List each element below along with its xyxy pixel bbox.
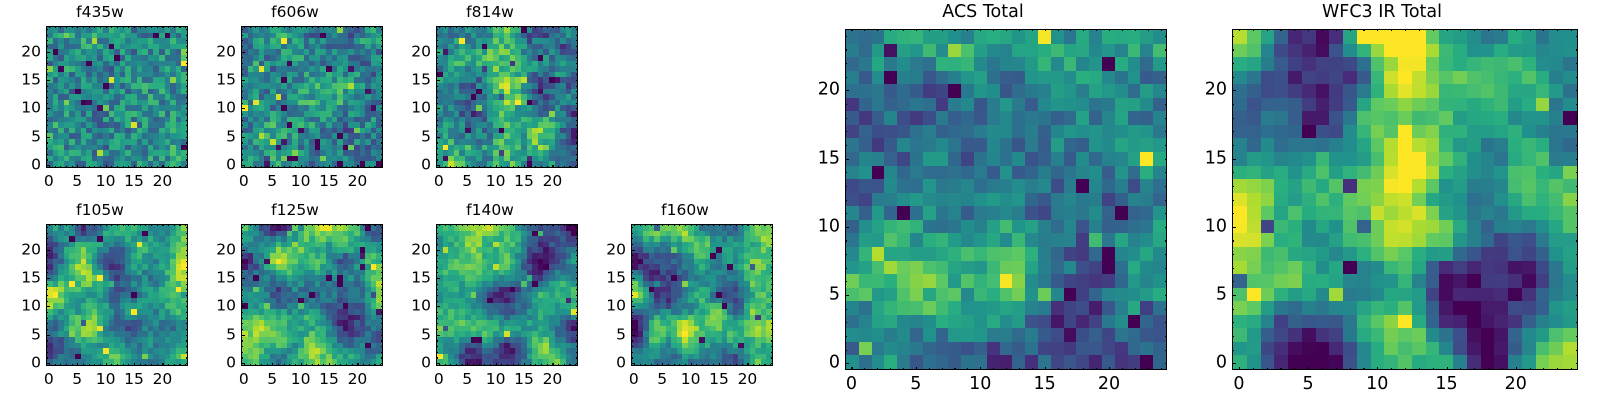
x-tick-minor (1045, 29, 1046, 31)
y-tick (436, 137, 440, 138)
x-tick-minor (518, 224, 519, 226)
x-tick-minor (162, 26, 163, 28)
heatmap-cells-f160w (632, 225, 772, 365)
y-tick-minor (1232, 36, 1234, 37)
y-tick-minor (576, 238, 578, 239)
x-tick (851, 367, 852, 371)
x-tick (1308, 367, 1309, 371)
x-tick-minor (72, 26, 73, 28)
y-tick-minor (46, 323, 48, 324)
x-tick-minor (100, 364, 101, 366)
y-tick (241, 306, 245, 307)
x-tick-minor (547, 166, 548, 168)
x-tick-minor (289, 364, 290, 366)
y-tick-minor (381, 108, 383, 109)
y-tick-minor (186, 159, 188, 160)
y-tick-minor (436, 238, 438, 239)
x-tick-label: 20 (1505, 376, 1527, 394)
heatmap-f105w[interactable] (46, 224, 188, 366)
x-tick-minor (518, 364, 519, 366)
x-tick-label: 0 (846, 376, 857, 394)
x-tick-minor (564, 166, 565, 168)
x-tick-minor (640, 224, 641, 226)
x-tick-minor (1294, 29, 1295, 31)
y-tick-minor (436, 340, 438, 341)
x-tick-minor (335, 26, 336, 28)
y-tick-minor (576, 103, 578, 104)
y-tick-minor (1165, 159, 1167, 160)
y-tick-minor (381, 301, 383, 302)
y-tick-minor (771, 284, 773, 285)
y-tick (436, 52, 440, 53)
y-tick-minor (576, 335, 578, 336)
x-tick-minor (507, 224, 508, 226)
x-tick-minor (1161, 368, 1162, 370)
x-tick-minor (329, 224, 330, 226)
y-tick-minor (436, 142, 438, 143)
x-tick-minor (267, 364, 268, 366)
heatmap-f140w[interactable] (436, 224, 578, 366)
x-tick-minor (473, 224, 474, 226)
y-tick-minor (186, 255, 188, 256)
y-tick-minor (1165, 227, 1167, 228)
y-tick-minor (845, 240, 847, 241)
y-tick-minor (241, 40, 243, 41)
y-tick-label: 20 (411, 44, 431, 60)
heatmap-f814w[interactable] (436, 26, 578, 168)
y-tick-minor (46, 346, 48, 347)
y-tick-minor (186, 335, 188, 336)
x-tick-minor (484, 26, 485, 28)
y-tick-minor (845, 131, 847, 132)
x-tick-minor (278, 26, 279, 28)
heatmap-cells-f125w (242, 225, 382, 365)
y-tick-minor (46, 57, 48, 58)
x-tick-minor (346, 364, 347, 366)
x-tick-minor (730, 364, 731, 366)
x-tick-label: 10 (969, 376, 991, 394)
y-tick-minor (436, 69, 438, 70)
x-tick (1447, 367, 1448, 371)
y-tick-minor (1165, 131, 1167, 132)
x-tick-minor (335, 166, 336, 168)
y-tick-minor (381, 250, 383, 251)
y-tick-minor (1232, 104, 1234, 105)
y-tick-minor (576, 46, 578, 47)
y-tick-minor (576, 35, 578, 36)
y-tick-minor (436, 86, 438, 87)
y-tick (631, 363, 635, 364)
y-tick (1232, 90, 1236, 91)
x-tick-minor (295, 364, 296, 366)
y-tick-minor (381, 74, 383, 75)
x-tick-minor (55, 166, 56, 168)
x-tick-minor (929, 368, 930, 370)
x-tick-minor (1377, 29, 1378, 31)
y-tick-minor (381, 52, 383, 53)
y-tick-minor (1232, 145, 1234, 146)
y-tick-minor (1232, 281, 1234, 282)
panel-f435w: f435w 0510152005101520 (0, 0, 200, 195)
y-tick-minor (1232, 77, 1234, 78)
y-tick-minor (46, 97, 48, 98)
y-tick-minor (845, 49, 847, 50)
y-tick-minor (631, 323, 633, 324)
y-tick-minor (845, 254, 847, 255)
y-tick-minor (436, 295, 438, 296)
y-tick-minor (186, 97, 188, 98)
y-tick (436, 250, 440, 251)
x-tick-minor (1419, 368, 1420, 370)
x-tick-minor (323, 224, 324, 226)
y-tick-minor (1576, 227, 1578, 228)
y-tick-minor (241, 131, 243, 132)
y-tick-minor (576, 80, 578, 81)
x-tick (980, 367, 981, 371)
y-tick-label: 0 (31, 355, 41, 371)
y-tick-minor (436, 329, 438, 330)
x-tick-minor (877, 368, 878, 370)
x-tick-minor (340, 26, 341, 28)
y-tick-minor (1165, 63, 1167, 64)
y-tick-minor (576, 346, 578, 347)
x-tick-minor (456, 224, 457, 226)
y-tick-minor (1165, 77, 1167, 78)
x-tick-minor (725, 364, 726, 366)
y-tick-minor (436, 352, 438, 353)
y-tick-minor (436, 227, 438, 228)
x-tick-minor (123, 166, 124, 168)
x-tick-minor (100, 26, 101, 28)
y-tick (845, 227, 849, 228)
x-tick-minor (518, 166, 519, 168)
y-tick-minor (845, 213, 847, 214)
y-tick-label: 0 (421, 157, 431, 173)
x-tick-minor (473, 364, 474, 366)
x-tick-minor (369, 26, 370, 28)
x-tick-minor (261, 224, 262, 226)
y-tick-minor (576, 352, 578, 353)
x-tick-minor (1516, 29, 1517, 31)
y-tick-minor (46, 312, 48, 313)
heatmap-f160w[interactable] (631, 224, 773, 366)
y-tick-minor (771, 306, 773, 307)
x-tick-minor (244, 224, 245, 226)
y-tick-minor (241, 103, 243, 104)
y-tick-minor (436, 357, 438, 358)
x-tick-minor (123, 26, 124, 28)
y-tick-minor (845, 336, 847, 337)
x-tick-minor (439, 224, 440, 226)
y-tick-minor (1165, 49, 1167, 50)
y-tick-minor (241, 125, 243, 126)
y-tick-minor (1232, 309, 1234, 310)
y-tick-minor (186, 57, 188, 58)
heatmap-f125w[interactable] (241, 224, 383, 366)
panel-f814w: f814w 0510152005101520 (390, 0, 590, 195)
y-tick-minor (436, 261, 438, 262)
x-tick-minor (318, 26, 319, 28)
y-tick-label: 10 (21, 299, 41, 315)
y-tick-minor (771, 323, 773, 324)
x-tick-minor (255, 364, 256, 366)
x-tick-minor (157, 26, 158, 28)
y-tick-minor (1576, 350, 1578, 351)
x-tick-minor (736, 364, 737, 366)
x-tick-minor (708, 224, 709, 226)
y-tick-minor (576, 131, 578, 132)
x-tick-minor (501, 224, 502, 226)
x-tick-minor (916, 29, 917, 31)
y-tick-minor (241, 29, 243, 30)
x-tick-minor (55, 224, 56, 226)
x-tick-label: 15 (1033, 376, 1055, 394)
x-tick (747, 363, 748, 367)
x-tick-minor (1161, 29, 1162, 31)
x-tick-minor (535, 224, 536, 226)
x-tick-minor (89, 166, 90, 168)
y-tick (1232, 227, 1236, 228)
x-tick-minor (1557, 368, 1558, 370)
x-tick (329, 165, 330, 169)
x-tick-minor (374, 166, 375, 168)
x-tick-minor (929, 29, 930, 31)
x-tick-label: 5 (1303, 376, 1314, 394)
x-tick-minor (484, 166, 485, 168)
y-tick (46, 52, 50, 53)
y-tick-label: 15 (411, 72, 431, 88)
x-tick-minor (484, 364, 485, 366)
y-tick-minor (631, 318, 633, 319)
y-tick-minor (186, 250, 188, 251)
x-tick-label: 5 (72, 174, 82, 190)
x-tick-minor (719, 224, 720, 226)
x-tick-minor (117, 26, 118, 28)
x-tick-minor (145, 224, 146, 226)
y-tick-minor (576, 250, 578, 251)
heatmap-cells-wfc3-ir-total (1233, 30, 1577, 369)
x-tick (1239, 367, 1240, 371)
y-tick-minor (1232, 213, 1234, 214)
y-tick-minor (46, 352, 48, 353)
x-tick-minor (1135, 368, 1136, 370)
y-tick-minor (1576, 254, 1578, 255)
y-tick-minor (576, 29, 578, 30)
x-tick-minor (66, 166, 67, 168)
x-tick-minor (490, 364, 491, 366)
y-tick-minor (186, 261, 188, 262)
y-tick-minor (241, 120, 243, 121)
y-tick-minor (1165, 336, 1167, 337)
x-tick (916, 367, 917, 371)
x-tick-label: 10 (1366, 376, 1388, 394)
y-tick-minor (381, 352, 383, 353)
x-tick-minor (445, 26, 446, 28)
y-tick-minor (241, 35, 243, 36)
y-tick-label: 10 (411, 299, 431, 315)
x-tick-minor (83, 224, 84, 226)
x-tick (1516, 367, 1517, 371)
y-tick-minor (46, 35, 48, 36)
x-tick-minor (1006, 368, 1007, 370)
y-tick-minor (241, 352, 243, 353)
y-tick-label: 0 (1216, 354, 1227, 372)
y-tick-minor (241, 244, 243, 245)
y-tick-minor (1576, 77, 1578, 78)
y-tick-minor (241, 69, 243, 70)
y-tick-minor (381, 142, 383, 143)
x-tick-minor (1253, 368, 1254, 370)
y-tick-minor (186, 103, 188, 104)
y-tick (241, 278, 245, 279)
x-tick-minor (1032, 368, 1033, 370)
x-tick-minor (552, 224, 553, 226)
y-tick-minor (46, 131, 48, 132)
x-tick (357, 165, 358, 169)
x-tick-minor (1322, 29, 1323, 31)
x-tick-minor (456, 364, 457, 366)
x-tick-minor (352, 26, 353, 28)
x-tick-minor (662, 224, 663, 226)
y-tick-minor (1165, 36, 1167, 37)
x-tick-minor (289, 224, 290, 226)
y-tick-minor (1232, 240, 1234, 241)
y-tick-minor (631, 272, 633, 273)
y-tick-minor (771, 295, 773, 296)
y-tick-minor (436, 57, 438, 58)
y-tick-minor (631, 312, 633, 313)
y-tick-minor (186, 142, 188, 143)
heatmap-f435w[interactable] (46, 26, 188, 168)
x-tick-minor (357, 224, 358, 226)
x-tick-minor (306, 224, 307, 226)
y-tick-minor (631, 357, 633, 358)
y-tick-minor (381, 57, 383, 58)
x-tick (301, 363, 302, 367)
y-tick-label: 10 (216, 299, 236, 315)
x-tick-label: 15 (709, 372, 729, 388)
x-tick-minor (450, 224, 451, 226)
x-tick-minor (1474, 368, 1475, 370)
x-tick-minor (278, 224, 279, 226)
x-tick-minor (713, 224, 714, 226)
heatmap-cells-f105w (47, 225, 187, 365)
x-tick-minor (713, 364, 714, 366)
y-tick-minor (186, 301, 188, 302)
y-tick-minor (186, 318, 188, 319)
x-tick (524, 165, 525, 169)
x-tick-minor (174, 166, 175, 168)
y-tick-minor (186, 340, 188, 341)
y-tick-minor (1232, 186, 1234, 187)
y-tick-minor (46, 284, 48, 285)
x-tick (162, 165, 163, 169)
x-tick-minor (558, 166, 559, 168)
x-tick-minor (541, 364, 542, 366)
x-tick-minor (1322, 368, 1323, 370)
y-tick (46, 278, 50, 279)
x-tick-minor (83, 364, 84, 366)
x-tick-minor (261, 166, 262, 168)
y-tick-minor (631, 289, 633, 290)
y-tick-minor (1232, 336, 1234, 337)
x-tick (662, 363, 663, 367)
x-tick-minor (284, 364, 285, 366)
x-tick-minor (1096, 29, 1097, 31)
x-tick (1109, 367, 1110, 371)
x-tick-minor (162, 224, 163, 226)
y-tick-minor (381, 103, 383, 104)
x-tick-minor (55, 364, 56, 366)
y-tick-minor (771, 250, 773, 251)
y-tick-minor (436, 97, 438, 98)
x-tick-minor (267, 224, 268, 226)
x-tick-minor (284, 166, 285, 168)
y-tick-minor (845, 118, 847, 119)
x-tick-minor (524, 26, 525, 28)
y-tick-minor (381, 91, 383, 92)
panel-f140w: f140w 0510152005101520 (390, 198, 590, 400)
x-tick-minor (501, 26, 502, 28)
x-tick-minor (352, 364, 353, 366)
y-tick-minor (186, 284, 188, 285)
x-tick-minor (66, 364, 67, 366)
x-tick (134, 165, 135, 169)
y-tick-minor (771, 261, 773, 262)
x-tick-label: 20 (348, 372, 368, 388)
y-tick-label: 0 (31, 157, 41, 173)
x-tick-minor (1502, 29, 1503, 31)
x-tick-minor (530, 224, 531, 226)
y-tick-label: 20 (818, 82, 840, 100)
x-tick-minor (374, 26, 375, 28)
x-tick (467, 363, 468, 367)
x-tick-minor (66, 26, 67, 28)
x-tick-minor (289, 166, 290, 168)
x-tick-minor (94, 26, 95, 28)
heatmap-wfc3-ir-total[interactable] (1232, 29, 1578, 370)
y-tick-minor (241, 255, 243, 256)
y-tick-minor (381, 63, 383, 64)
x-tick-minor (323, 26, 324, 28)
y-tick-minor (1576, 186, 1578, 187)
y-tick-minor (46, 289, 48, 290)
x-tick-minor (72, 166, 73, 168)
y-tick-minor (436, 154, 438, 155)
x-tick-minor (462, 364, 463, 366)
y-tick-minor (186, 238, 188, 239)
x-tick-minor (312, 166, 313, 168)
y-tick-minor (771, 267, 773, 268)
x-tick-minor (890, 368, 891, 370)
x-tick-minor (1419, 29, 1420, 31)
y-tick-minor (381, 86, 383, 87)
y-tick-minor (436, 255, 438, 256)
x-tick-minor (1543, 368, 1544, 370)
x-tick-minor (1391, 368, 1392, 370)
y-tick-minor (436, 148, 438, 149)
x-tick-minor (140, 364, 141, 366)
y-tick-minor (46, 261, 48, 262)
heatmap-acs-total[interactable] (845, 29, 1167, 370)
y-tick-minor (436, 284, 438, 285)
panel-title-f140w: f140w (390, 203, 590, 219)
y-tick-minor (1165, 213, 1167, 214)
heatmap-f606w[interactable] (241, 26, 383, 168)
y-tick-minor (381, 244, 383, 245)
y-tick-label: 5 (616, 327, 626, 343)
y-tick (241, 108, 245, 109)
